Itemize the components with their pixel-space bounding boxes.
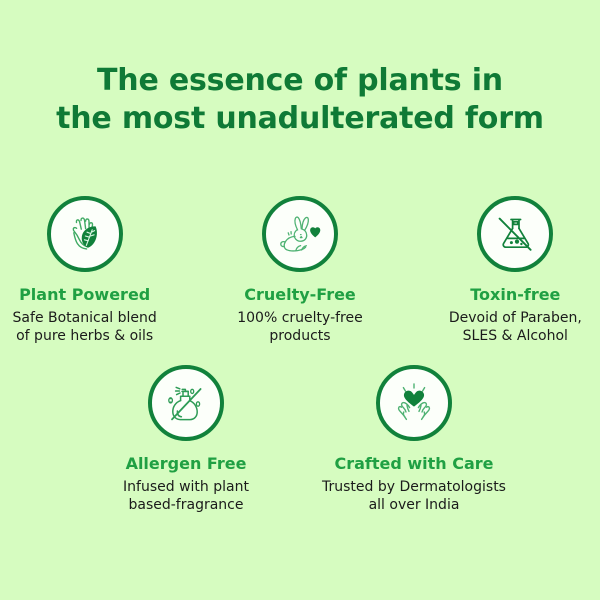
- feature-icon-wrapper: [148, 365, 224, 441]
- feature-description-line-2: all over India: [322, 496, 506, 514]
- feature-description: Infused with plant based-fragrance: [123, 478, 249, 514]
- feature-description-line-2: SLES & Alcohol: [449, 327, 582, 345]
- no-perfume-spray-icon: [161, 378, 211, 428]
- feature-title: Toxin-free: [470, 285, 560, 305]
- feature-grid: Plant Powered Safe Botanical blend of pu…: [0, 196, 600, 514]
- feature-icon-wrapper: [262, 196, 338, 272]
- feature-description: 100% cruelty-free products: [237, 309, 363, 345]
- page-title-line-1: The essence of plants in: [0, 62, 600, 100]
- page-title-line-2: the most unadulterated form: [0, 100, 600, 138]
- feature-icon-wrapper: [376, 365, 452, 441]
- feature-allergen-free: Allergen Free Infused with plant based-f…: [95, 365, 277, 514]
- promo-banner: The essence of plants in the most unadul…: [0, 0, 600, 600]
- feature-description: Safe Botanical blend of pure herbs & oil…: [13, 309, 157, 345]
- feature-description-line-1: 100% cruelty-free: [237, 309, 363, 327]
- feature-plant-powered: Plant Powered Safe Botanical blend of pu…: [0, 196, 169, 345]
- feature-row-top: Plant Powered Safe Botanical blend of pu…: [0, 196, 600, 345]
- hands-heart-icon: [389, 379, 439, 427]
- feature-description-line-1: Trusted by Dermatologists: [322, 478, 506, 496]
- feature-title: Cruelty-Free: [244, 285, 356, 305]
- feature-title: Crafted with Care: [334, 454, 493, 474]
- no-flask-icon: [491, 210, 539, 258]
- feature-icon-wrapper: [47, 196, 123, 272]
- feature-icon-wrapper: [477, 196, 553, 272]
- page-title: The essence of plants in the most unadul…: [0, 62, 600, 138]
- feature-row-bottom: Allergen Free Infused with plant based-f…: [0, 365, 600, 514]
- feature-description-line-2: of pure herbs & oils: [13, 327, 157, 345]
- feature-description-line-2: based-fragrance: [123, 496, 249, 514]
- hand-leaf-icon: [60, 209, 110, 259]
- rabbit-heart-icon: [274, 211, 326, 257]
- feature-crafted-with-care: Crafted with Care Trusted by Dermatologi…: [323, 365, 505, 514]
- feature-title: Allergen Free: [126, 454, 247, 474]
- feature-description-line-1: Devoid of Paraben,: [449, 309, 582, 327]
- feature-description: Devoid of Paraben, SLES & Alcohol: [449, 309, 582, 345]
- feature-description-line-1: Safe Botanical blend: [13, 309, 157, 327]
- feature-description-line-2: products: [237, 327, 363, 345]
- feature-cruelty-free: Cruelty-Free 100% cruelty-free products: [215, 196, 384, 345]
- feature-title: Plant Powered: [19, 285, 150, 305]
- feature-description: Trusted by Dermatologists all over India: [322, 478, 506, 514]
- feature-description-line-1: Infused with plant: [123, 478, 249, 496]
- feature-toxin-free: Toxin-free Devoid of Paraben, SLES & Alc…: [431, 196, 600, 345]
